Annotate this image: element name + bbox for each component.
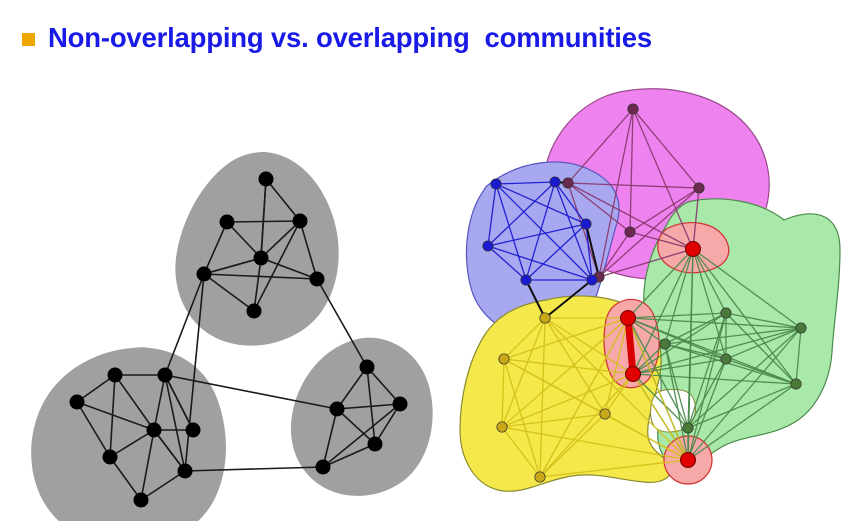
slide-title-row: Non-overlapping vs. overlapping communit… (0, 14, 852, 62)
graph-node[interactable] (540, 313, 550, 323)
overlapping-communities-figure (420, 62, 852, 521)
graph-node[interactable] (694, 183, 704, 193)
yellow-green-overlap-node-bottom[interactable] (681, 453, 696, 468)
graph-node[interactable] (521, 275, 531, 285)
graph-node[interactable] (683, 423, 693, 433)
graph-node[interactable] (360, 360, 375, 375)
graph-node[interactable] (186, 423, 201, 438)
graph-node[interactable] (628, 104, 638, 114)
slide-canvas: Non-overlapping vs. overlapping communit… (0, 0, 852, 521)
graph-node[interactable] (316, 460, 331, 475)
overlapping-graph-svg (420, 62, 852, 521)
graph-node[interactable] (483, 241, 493, 251)
yellow-green-overlap-node-upper[interactable] (621, 311, 636, 326)
non-overlapping-graph-svg (0, 62, 440, 521)
graph-node[interactable] (310, 272, 325, 287)
gray-blob-bottom-right (291, 338, 433, 496)
graph-node[interactable] (108, 368, 123, 383)
graph-node[interactable] (220, 215, 235, 230)
graph-node[interactable] (660, 339, 670, 349)
graph-node[interactable] (368, 437, 383, 452)
graph-node[interactable] (393, 397, 408, 412)
graph-node[interactable] (581, 219, 591, 229)
figures-area (0, 62, 852, 521)
non-overlapping-communities-figure (0, 62, 440, 521)
graph-node[interactable] (247, 304, 262, 319)
graph-node[interactable] (147, 423, 162, 438)
graph-node[interactable] (791, 379, 801, 389)
graph-node[interactable] (497, 422, 507, 432)
page-title: Non-overlapping vs. overlapping communit… (48, 24, 652, 53)
graph-node[interactable] (550, 177, 560, 187)
graph-node[interactable] (197, 267, 212, 282)
graph-node[interactable] (499, 354, 509, 364)
yellow-green-overlap-node-lower[interactable] (626, 367, 641, 382)
graph-node[interactable] (491, 179, 501, 189)
graph-node[interactable] (103, 450, 118, 465)
graph-node[interactable] (293, 214, 308, 229)
graph-node[interactable] (259, 172, 274, 187)
graph-node[interactable] (254, 251, 269, 266)
graph-node[interactable] (796, 323, 806, 333)
graph-node[interactable] (178, 464, 193, 479)
graph-node[interactable] (158, 368, 173, 383)
graph-node[interactable] (563, 178, 573, 188)
graph-node[interactable] (70, 395, 85, 410)
graph-node[interactable] (721, 308, 731, 318)
thick-red-edge (628, 318, 633, 374)
graph-node[interactable] (330, 402, 345, 417)
graph-node[interactable] (587, 275, 597, 285)
graph-node[interactable] (625, 227, 635, 237)
graph-node[interactable] (600, 409, 610, 419)
magenta-green-overlap-node[interactable] (686, 242, 701, 257)
graph-node[interactable] (721, 354, 731, 364)
orange-square-bullet-icon (22, 33, 35, 46)
graph-node[interactable] (134, 493, 149, 508)
graph-node[interactable] (535, 472, 545, 482)
